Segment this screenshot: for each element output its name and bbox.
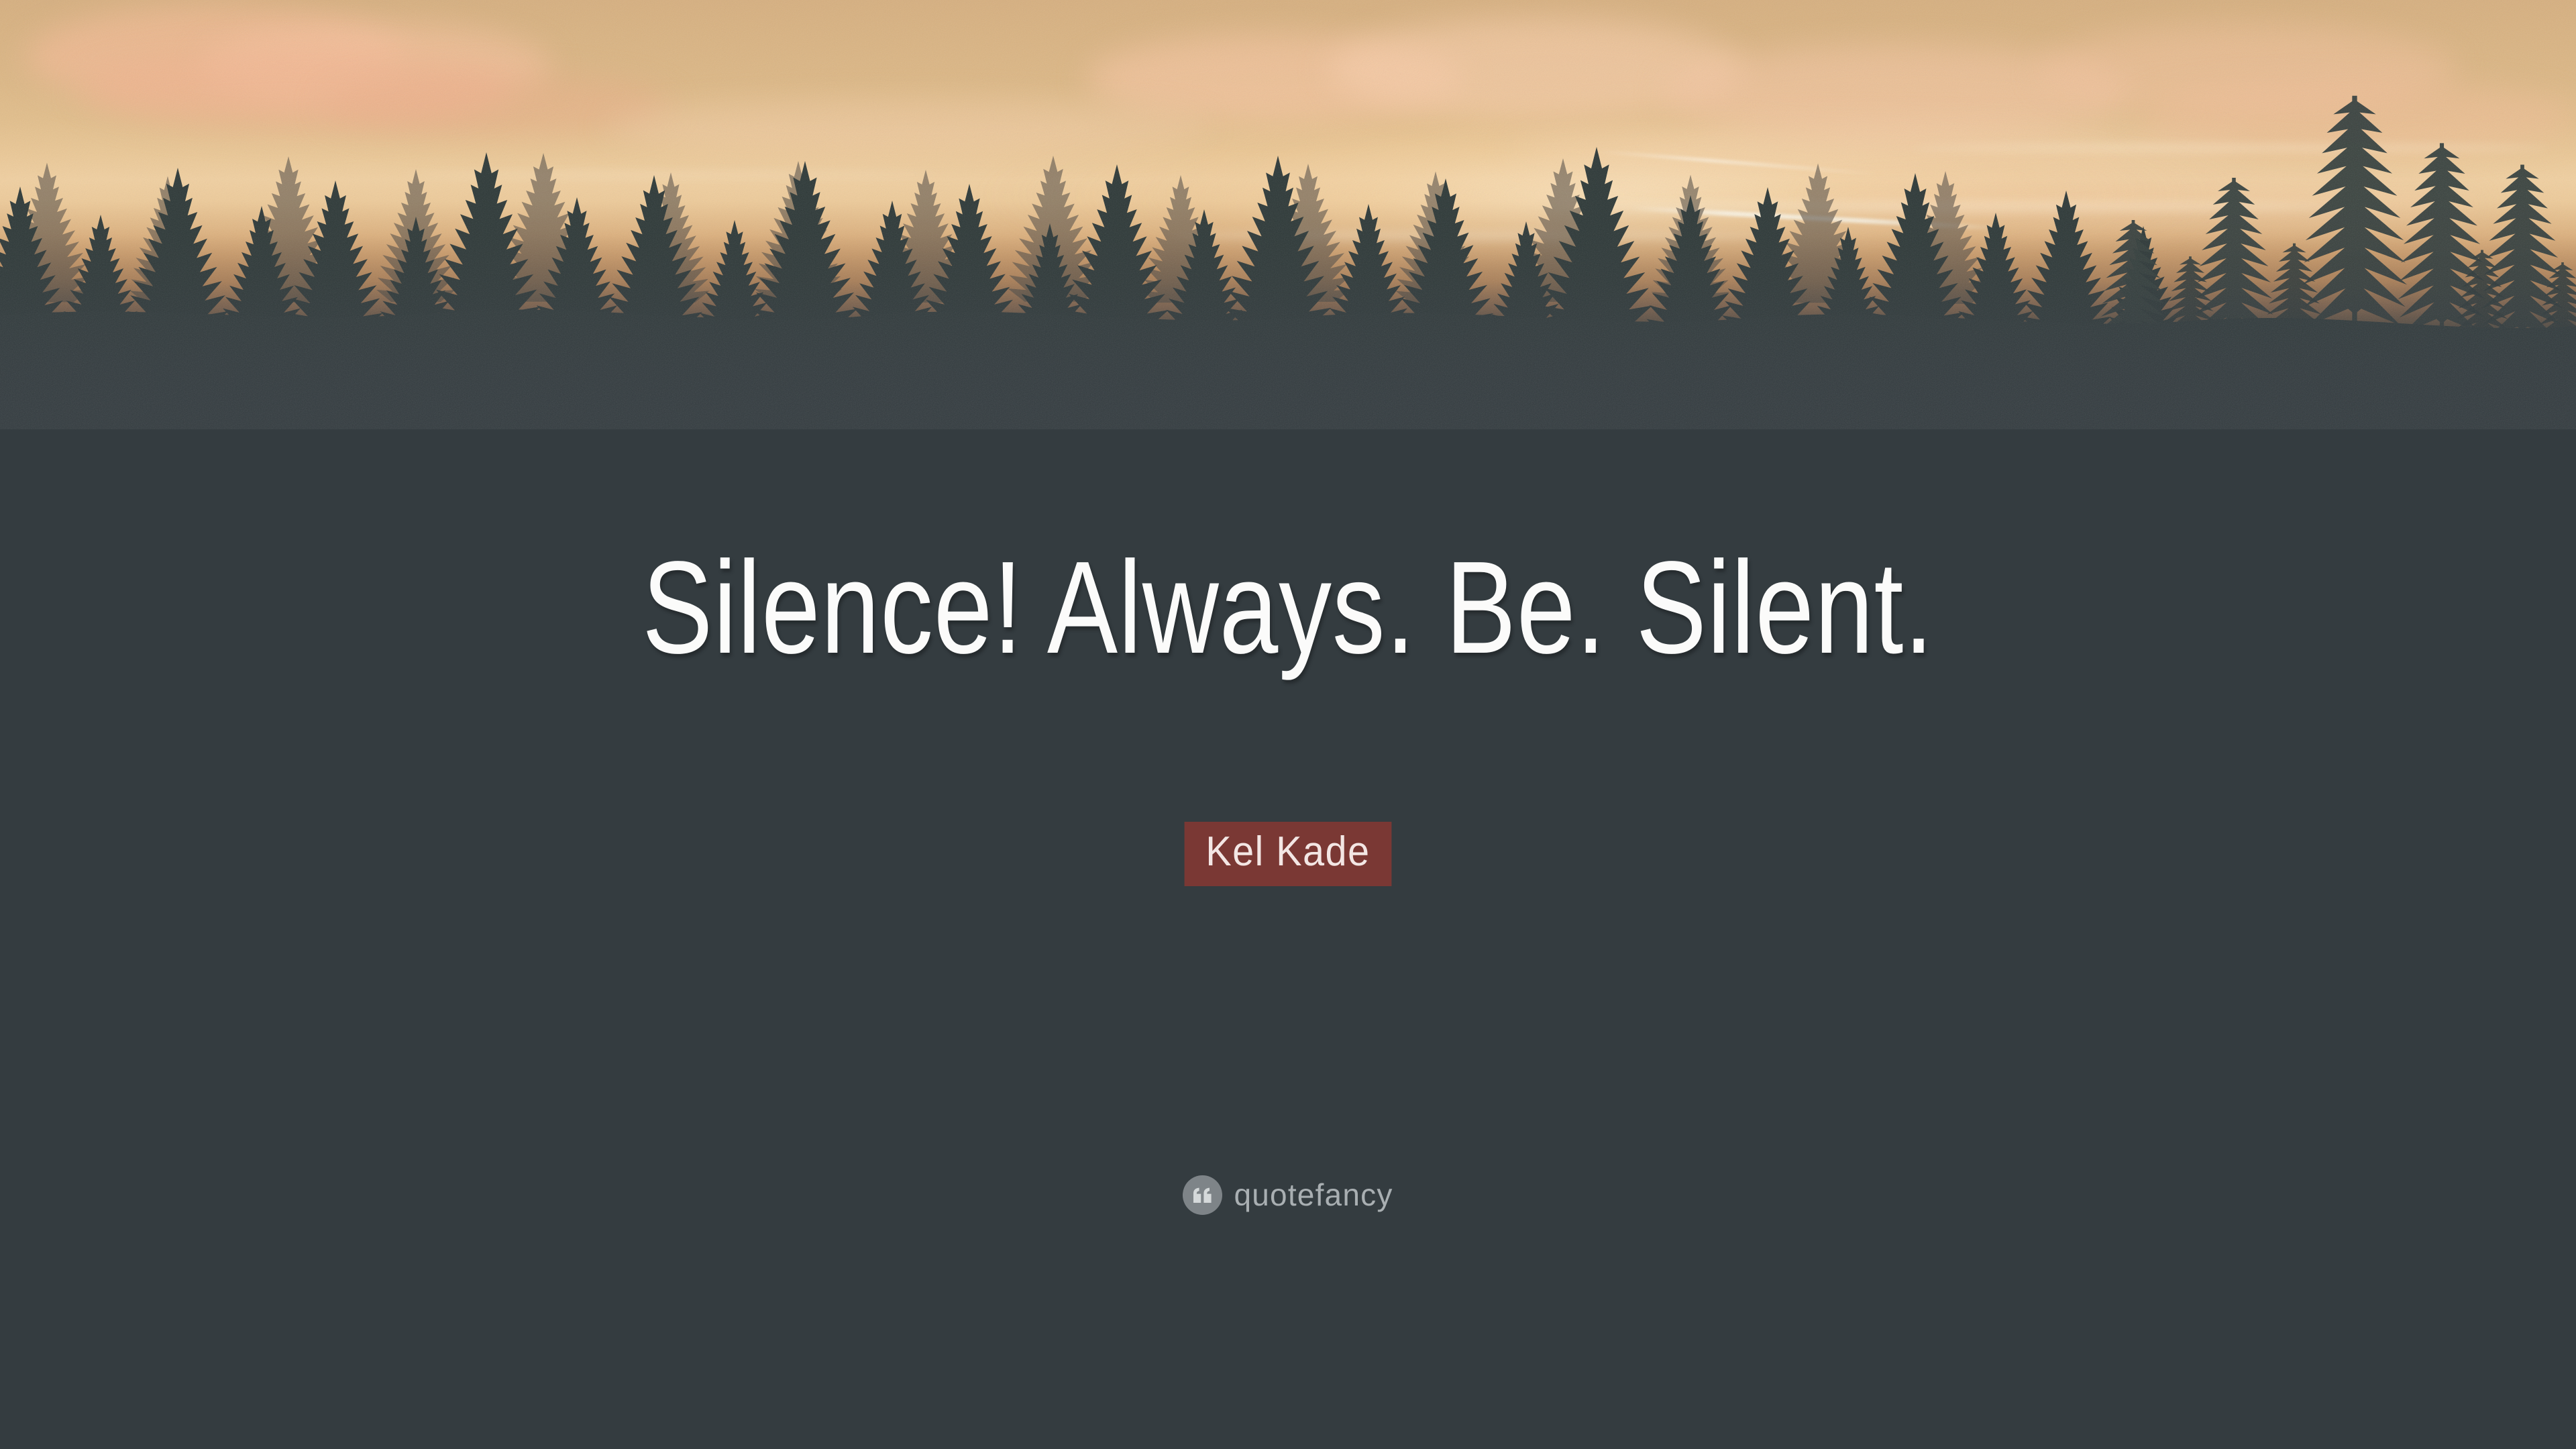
quote-poster: Silence! Always. Be. Silent. Kel Kade qu… xyxy=(0,0,2576,1449)
author-container: Kel Kade xyxy=(0,822,2576,886)
quotefancy-logo[interactable]: quotefancy xyxy=(0,1175,2576,1215)
quotefancy-wordmark: quotefancy xyxy=(1234,1179,1393,1210)
quote-text: Silence! Always. Be. Silent. xyxy=(251,530,2324,685)
author-name-badge: Kel Kade xyxy=(1185,822,1391,886)
quote-mark-icon xyxy=(1183,1175,1222,1215)
poster-content: Silence! Always. Be. Silent. Kel Kade qu… xyxy=(0,0,2576,1449)
